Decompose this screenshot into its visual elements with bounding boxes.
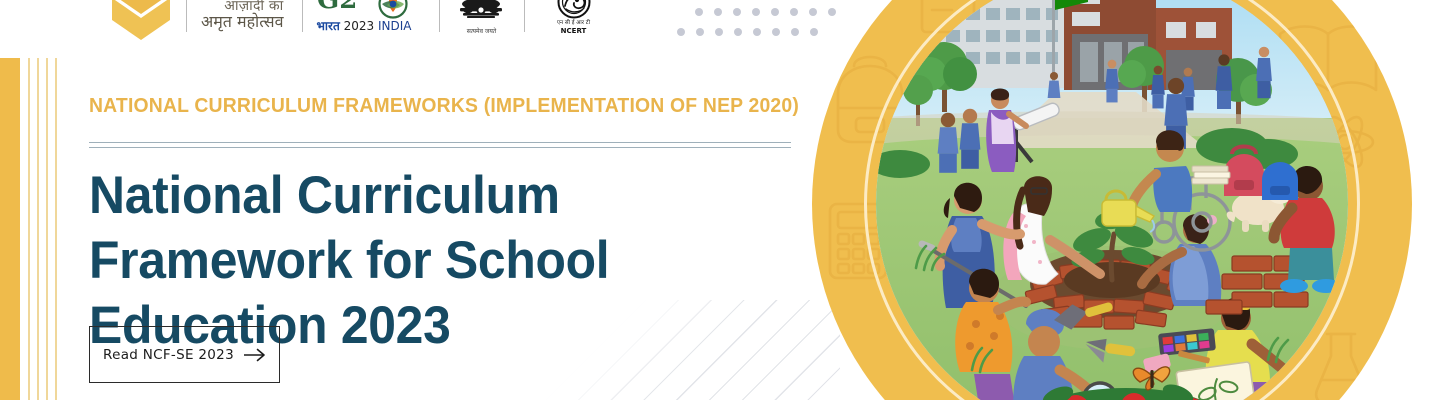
emblem-caption: सत्यमेव जयते xyxy=(454,27,510,35)
azadi-line-2: अमृत महोत्सव xyxy=(201,14,284,30)
logo-strip: आज़ादी का अमृत महोत्सव G2 भ xyxy=(96,0,623,42)
gold-ring-frame xyxy=(812,0,1412,400)
pinstripe xyxy=(28,58,30,400)
cta-label: Read NCF-SE 2023 xyxy=(103,347,234,363)
school-garden-illustration xyxy=(876,0,1348,400)
left-gold-bar xyxy=(0,58,20,400)
hero-artwork xyxy=(812,0,1412,400)
dot xyxy=(734,28,742,36)
g20-hindi: भारत xyxy=(317,19,340,33)
pinstripe xyxy=(55,58,57,400)
dot xyxy=(753,28,761,36)
dot xyxy=(715,28,723,36)
dot xyxy=(696,28,704,36)
dot xyxy=(714,8,722,16)
emblem-of-india-logo: सत्यमेव जयते xyxy=(440,0,524,42)
dot xyxy=(695,8,703,16)
ncert-name: एन सी ई आर टी NCERT xyxy=(539,20,609,36)
g20-india-logo: G2 भारत 2023 INDIA xyxy=(303,0,439,42)
left-pinstripes xyxy=(28,58,62,400)
ncert-hindi: एन सी ई आर टी xyxy=(539,20,609,27)
arrow-right-icon xyxy=(244,348,266,362)
g20-year: 2023 xyxy=(344,19,375,33)
dot xyxy=(791,28,799,36)
dot xyxy=(790,8,798,16)
ncert-acronym: NCERT xyxy=(561,27,587,35)
svg-text:G2: G2 xyxy=(317,0,357,15)
dot xyxy=(752,8,760,16)
dot xyxy=(771,8,779,16)
chevron-mark-icon xyxy=(96,0,186,42)
divider-line-bottom xyxy=(89,147,791,148)
ncf-hero-banner: आज़ादी का अमृत महोत्सव G2 भ xyxy=(0,0,1440,400)
pinstripe xyxy=(46,58,48,400)
dot xyxy=(772,28,780,36)
dot xyxy=(733,8,741,16)
dot xyxy=(677,28,685,36)
eyebrow-label: NATIONAL CURRICULUM FRAMEWORKS (IMPLEMEN… xyxy=(89,94,799,118)
divider-line-top xyxy=(89,142,791,143)
dot-row xyxy=(677,28,818,36)
azadi-ka-amrit-mahotsav-logo: आज़ादी का अमृत महोत्सव xyxy=(187,0,302,42)
g20-country: INDIA xyxy=(378,19,412,33)
pinstripe xyxy=(37,58,39,400)
azadi-line-1: आज़ादी का xyxy=(201,0,284,13)
ncert-logo: एन सी ई आर टी NCERT xyxy=(525,0,623,42)
read-ncf-se-2023-button[interactable]: Read NCF-SE 2023 xyxy=(89,326,280,383)
